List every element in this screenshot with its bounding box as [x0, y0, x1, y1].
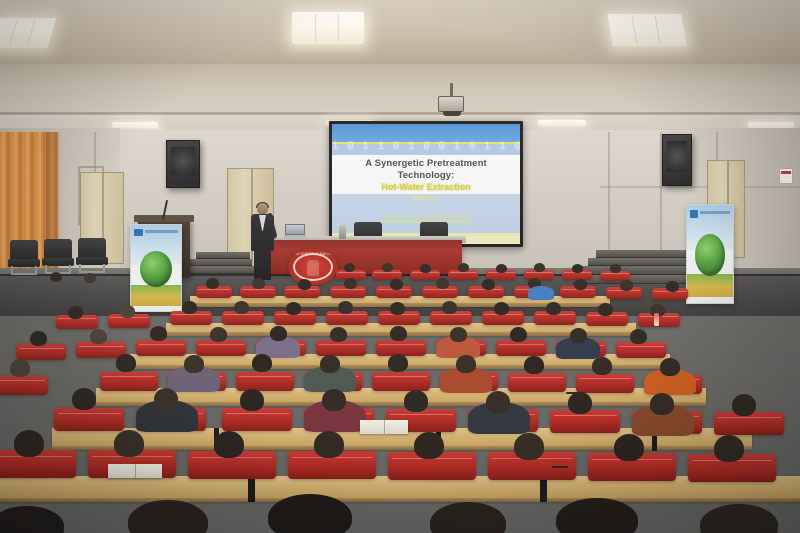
seat-back — [236, 372, 294, 391]
audience-head — [570, 328, 587, 343]
slide-title-line1: A Synergetic Pretreatment — [332, 158, 520, 169]
audience-head — [128, 500, 208, 533]
chair-back — [44, 239, 72, 259]
seat-back — [16, 344, 66, 360]
banner-headline-bar — [700, 211, 730, 214]
wall-speaker-right — [662, 134, 692, 186]
ceiling-panel-light — [0, 18, 56, 48]
audience-head — [268, 494, 352, 533]
audience-head — [420, 264, 431, 273]
laptop-base — [284, 235, 306, 238]
audience-head — [322, 389, 346, 411]
chair-back — [78, 238, 106, 258]
audience-head — [660, 358, 680, 376]
audience-head — [298, 279, 311, 290]
audience-head — [270, 326, 287, 341]
audience-head — [458, 263, 469, 272]
open-notebook — [360, 420, 408, 434]
laptop-icon — [284, 224, 306, 238]
audience-head — [50, 272, 62, 282]
audience-head — [614, 434, 644, 461]
thermos-icon — [339, 225, 346, 239]
audience-head — [450, 327, 467, 342]
audience-head — [314, 431, 344, 458]
audience-head — [650, 393, 674, 415]
audience-head — [732, 394, 756, 416]
audience-head — [486, 391, 510, 413]
audience-head — [482, 279, 495, 290]
audience-head — [572, 264, 583, 273]
ceiling-projector-icon — [438, 96, 464, 112]
laptop-screen — [285, 224, 305, 235]
audience-head — [390, 302, 405, 315]
wall-speaker-left — [166, 140, 200, 188]
audience-head — [496, 264, 507, 273]
seat-back — [576, 374, 634, 393]
audience-head — [10, 359, 30, 377]
audience-head — [390, 279, 403, 290]
audience-head — [700, 504, 778, 533]
audience-head — [184, 355, 204, 373]
lecture-hall-photo: 1 0 1 1 0 1 0 0 1 0 1 1 0 0 1 0 1 A Syne… — [0, 0, 800, 533]
wall-sign — [779, 168, 793, 184]
audience-head — [510, 327, 527, 342]
banner-logo-icon — [690, 210, 698, 218]
audience-head — [414, 432, 444, 459]
audience-head — [214, 431, 244, 458]
audience-head — [150, 326, 167, 341]
ceiling-panel-light — [292, 12, 364, 44]
handheld-microphone-icon — [268, 213, 272, 220]
audience-head — [154, 388, 178, 410]
audience-head — [388, 354, 408, 372]
slide-title-line2: Technology: — [332, 170, 520, 181]
audience-head — [120, 305, 135, 318]
slide-title-box: A Synergetic Pretreatment Technology: Ho… — [332, 155, 520, 194]
seat-back — [0, 376, 48, 395]
audience-row — [0, 442, 800, 504]
audience-head — [252, 278, 265, 289]
chair-back — [10, 240, 38, 260]
ceiling-edge-line — [0, 112, 800, 115]
stair-step — [196, 252, 250, 259]
audience-head — [90, 329, 107, 344]
audience-head — [320, 355, 340, 373]
audience-head — [524, 356, 544, 374]
pen — [552, 466, 568, 468]
slide-author: Shijie Liu — [332, 196, 520, 202]
audience-head — [714, 435, 744, 462]
audience-head — [114, 430, 144, 457]
audience-head — [252, 354, 272, 372]
emblem-label: UNIVERSITY EMBLEM — [288, 252, 338, 256]
audience-head — [30, 331, 47, 346]
audience-head — [182, 301, 197, 314]
seat-back — [100, 372, 158, 391]
audience-head — [436, 278, 449, 289]
audience-head — [382, 263, 393, 272]
audience-head — [0, 506, 64, 533]
audience-head — [598, 303, 613, 316]
audience-head — [514, 433, 544, 460]
audience-head — [666, 281, 679, 292]
seat-back — [196, 340, 246, 356]
audience-head — [72, 388, 96, 410]
audience-head — [546, 302, 561, 315]
open-notebook — [108, 464, 162, 478]
audience-head — [234, 301, 249, 314]
audience-head — [568, 392, 592, 414]
seat-back — [54, 408, 124, 431]
audience-person — [528, 286, 554, 300]
seat-back — [222, 408, 292, 431]
audience-head — [556, 498, 638, 533]
wall-seam — [600, 186, 800, 188]
audience-head — [592, 357, 612, 375]
slide-subtitle: Hot-Water Extraction — [332, 182, 520, 192]
audience-head — [68, 306, 83, 319]
audience-head — [534, 263, 545, 272]
audience-head — [14, 430, 44, 457]
water-bottle — [654, 313, 659, 326]
audience-head — [610, 264, 621, 273]
banner-headline-bar — [145, 230, 178, 233]
audience-head — [494, 302, 509, 315]
audience-head — [210, 327, 227, 342]
seat-back — [496, 340, 546, 356]
audience-head — [286, 302, 301, 315]
seat-back — [316, 340, 366, 356]
audience-head — [574, 279, 587, 290]
audience-head — [330, 327, 347, 342]
audience-head — [630, 329, 647, 344]
ceiling-panel-light — [607, 14, 687, 46]
ceiling-soffit — [0, 64, 800, 114]
audience-head — [116, 354, 136, 372]
seat-back — [372, 372, 430, 391]
audience-head — [338, 301, 353, 314]
audience-head — [404, 390, 428, 412]
audience-head — [430, 502, 506, 533]
audience-head — [240, 389, 264, 411]
seat-back — [616, 342, 666, 358]
audience-head — [344, 278, 357, 289]
audience-head — [206, 278, 219, 289]
audience-head — [456, 355, 476, 373]
audience-row — [0, 496, 800, 533]
audience-head — [442, 301, 457, 314]
banner-logo-icon — [134, 229, 143, 236]
ceiling-strip-light — [538, 120, 586, 126]
audience-head — [344, 263, 355, 272]
audience-head — [390, 326, 407, 341]
seat-back — [508, 373, 566, 392]
audience-head — [620, 280, 633, 291]
seat-back — [136, 340, 186, 356]
